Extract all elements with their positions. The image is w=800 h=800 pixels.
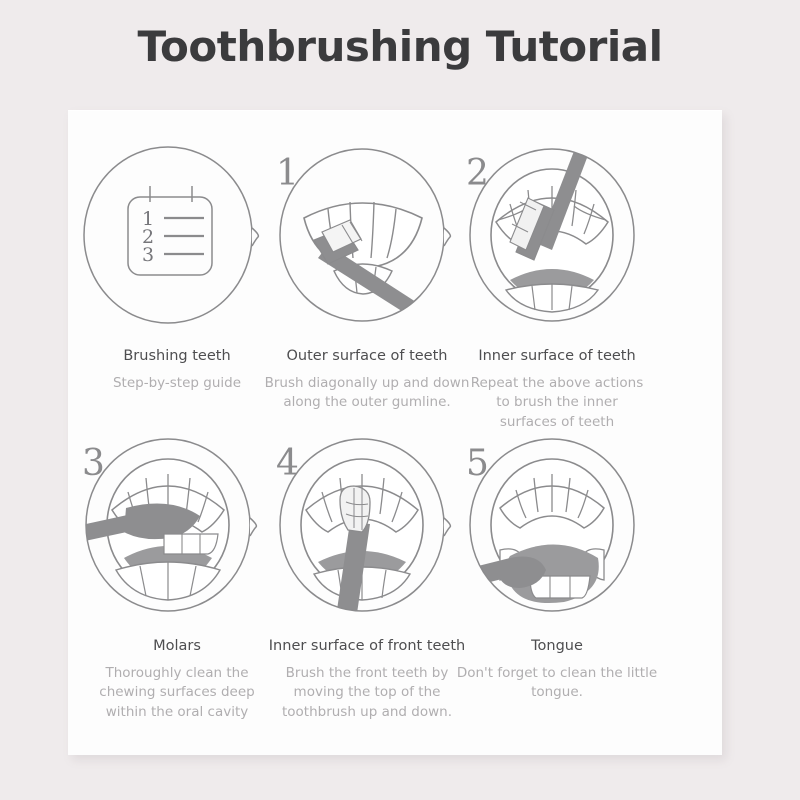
step-subtitle: Brush diagonally up and down along the o… [258,374,476,413]
outer-surface-brushing-icon: 1 [258,140,476,345]
step-number: 2 [466,153,489,194]
step-subtitle: Thoroughly clean the chewing surfaces de… [68,664,286,723]
step-number: 3 [82,443,105,484]
step-panel-outer-surface[interactable]: 1 Outer surface of teeth Brush diagonall… [258,140,476,413]
step-subtitle: Don't forget to clean the little tongue. [448,664,666,703]
tongue-brushing-icon: 5 [448,430,666,635]
inner-surface-brushing-icon: 2 [448,140,666,345]
step-title: Molars [68,637,286,657]
step-panel-inner-front-teeth[interactable]: 4 Inner surface of front teeth Brush the… [258,430,476,722]
step-title: Inner surface of teeth [448,347,666,367]
checklist-notepad-icon: 1 2 3 [68,140,286,345]
step-number: 1 [276,153,299,194]
tutorial-card: 1 2 3 Brushing teeth Step-by-step guide [68,110,722,755]
step-number: 4 [276,443,299,484]
step-subtitle: Repeat the above actions to brush the in… [448,374,666,433]
step-panel-molars[interactable]: 3 Molars Thoroughly clean the chewing su… [68,430,286,722]
step-title: Tongue [448,637,666,657]
step-title: Brushing teeth [68,347,286,367]
step-title: Outer surface of teeth [258,347,476,367]
step-panel-inner-surface[interactable]: 2 Inner surface of teeth Repeat the abov… [448,140,666,432]
molars-brushing-icon: 3 [68,430,286,635]
step-panel-brushing-teeth[interactable]: 1 2 3 Brushing teeth Step-by-step guide [68,140,286,393]
step-title: Inner surface of front teeth [258,637,476,657]
page-title: Toothbrushing Tutorial [0,22,800,71]
step-subtitle: Brush the front teeth by moving the top … [258,664,476,723]
svg-text:3: 3 [142,244,154,266]
front-teeth-inner-brushing-icon: 4 [258,430,476,635]
step-panel-tongue[interactable]: 5 Tongue Don't forget to clean the littl… [448,430,666,703]
step-subtitle: Step-by-step guide [68,374,286,394]
step-number: 5 [466,443,489,484]
